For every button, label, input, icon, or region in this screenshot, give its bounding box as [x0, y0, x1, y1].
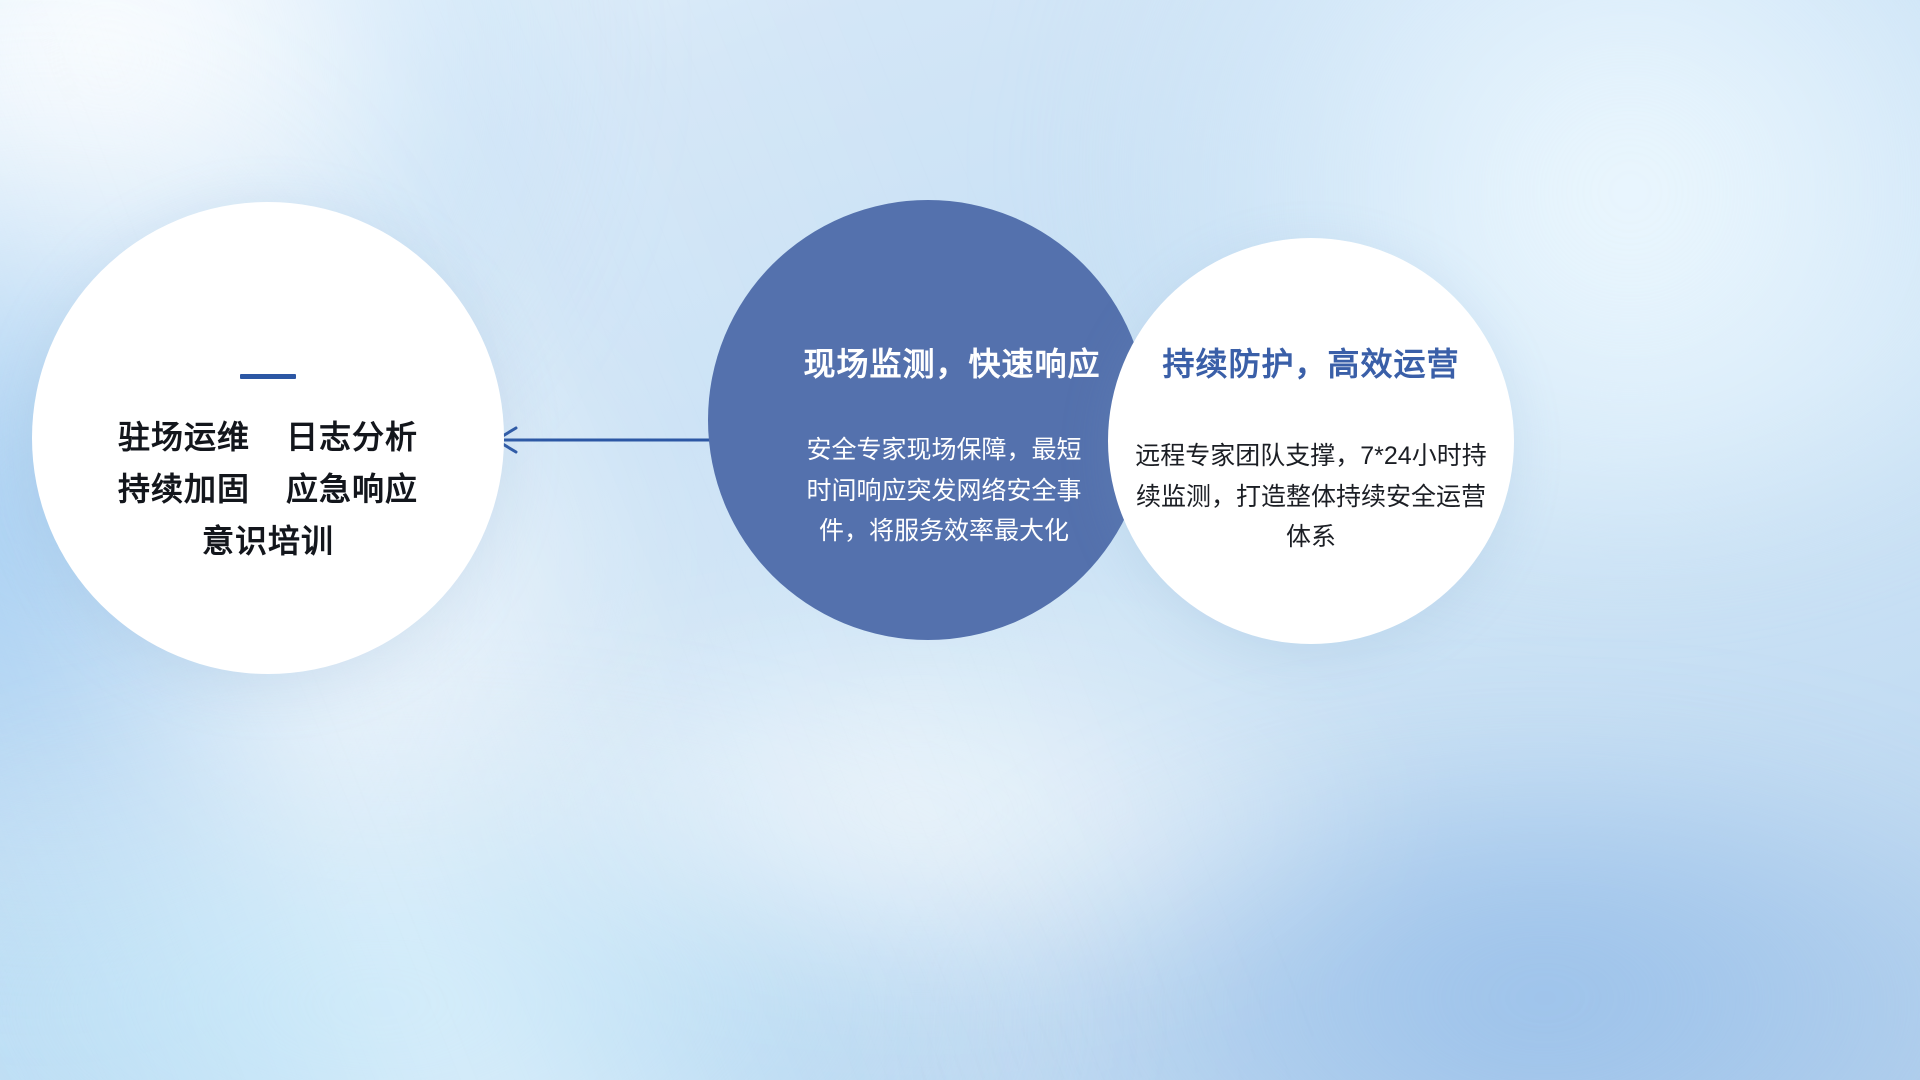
- middle-circle-title: 现场监测，快速响应: [803, 348, 1100, 380]
- right-circle-title: 持续防护，高效运营: [1162, 348, 1459, 380]
- capability-tag[interactable]: 持续加固: [118, 473, 250, 505]
- capability-tag[interactable]: 驻场运维: [118, 421, 250, 453]
- capability-tag[interactable]: 日志分析: [286, 421, 418, 453]
- middle-circle-content: 现场监测，快速响应 安全专家现场保障，最短时间响应突发网络安全事件，将服务效率最…: [708, 200, 1148, 640]
- divider-dash-icon: [240, 374, 296, 379]
- capability-circle-right[interactable]: 持续防护，高效运营 远程专家团队支撑，7*24小时持续监测，打造整体持续安全运营…: [1108, 238, 1514, 644]
- capability-tag[interactable]: 应急响应: [286, 473, 418, 505]
- right-circle-body-text: 远程专家团队支撑，7*24小时持续监测，打造整体持续安全运营体系: [1125, 436, 1497, 558]
- tag-row: 意识培训: [202, 525, 334, 557]
- capability-circle-left[interactable]: 驻场运维 日志分析 持续加固 应急响应 意识培训: [32, 202, 504, 674]
- tag-row: 持续加固 应急响应: [118, 473, 418, 505]
- middle-circle-body-text: 安全专家现场保障，最短时间响应突发网络安全事件，将服务效率最大化: [798, 430, 1090, 552]
- right-circle-content: 持续防护，高效运营 远程专家团队支撑，7*24小时持续监测，打造整体持续安全运营…: [1108, 238, 1514, 644]
- capability-circle-middle[interactable]: 现场监测，快速响应 安全专家现场保障，最短时间响应突发网络安全事件，将服务效率最…: [708, 200, 1148, 640]
- capability-tag-list: 驻场运维 日志分析 持续加固 应急响应 意识培训: [118, 421, 418, 557]
- tag-row: 驻场运维 日志分析: [118, 421, 418, 453]
- left-circle-content: 驻场运维 日志分析 持续加固 应急响应 意识培训: [32, 202, 504, 674]
- capability-tag[interactable]: 意识培训: [202, 525, 334, 557]
